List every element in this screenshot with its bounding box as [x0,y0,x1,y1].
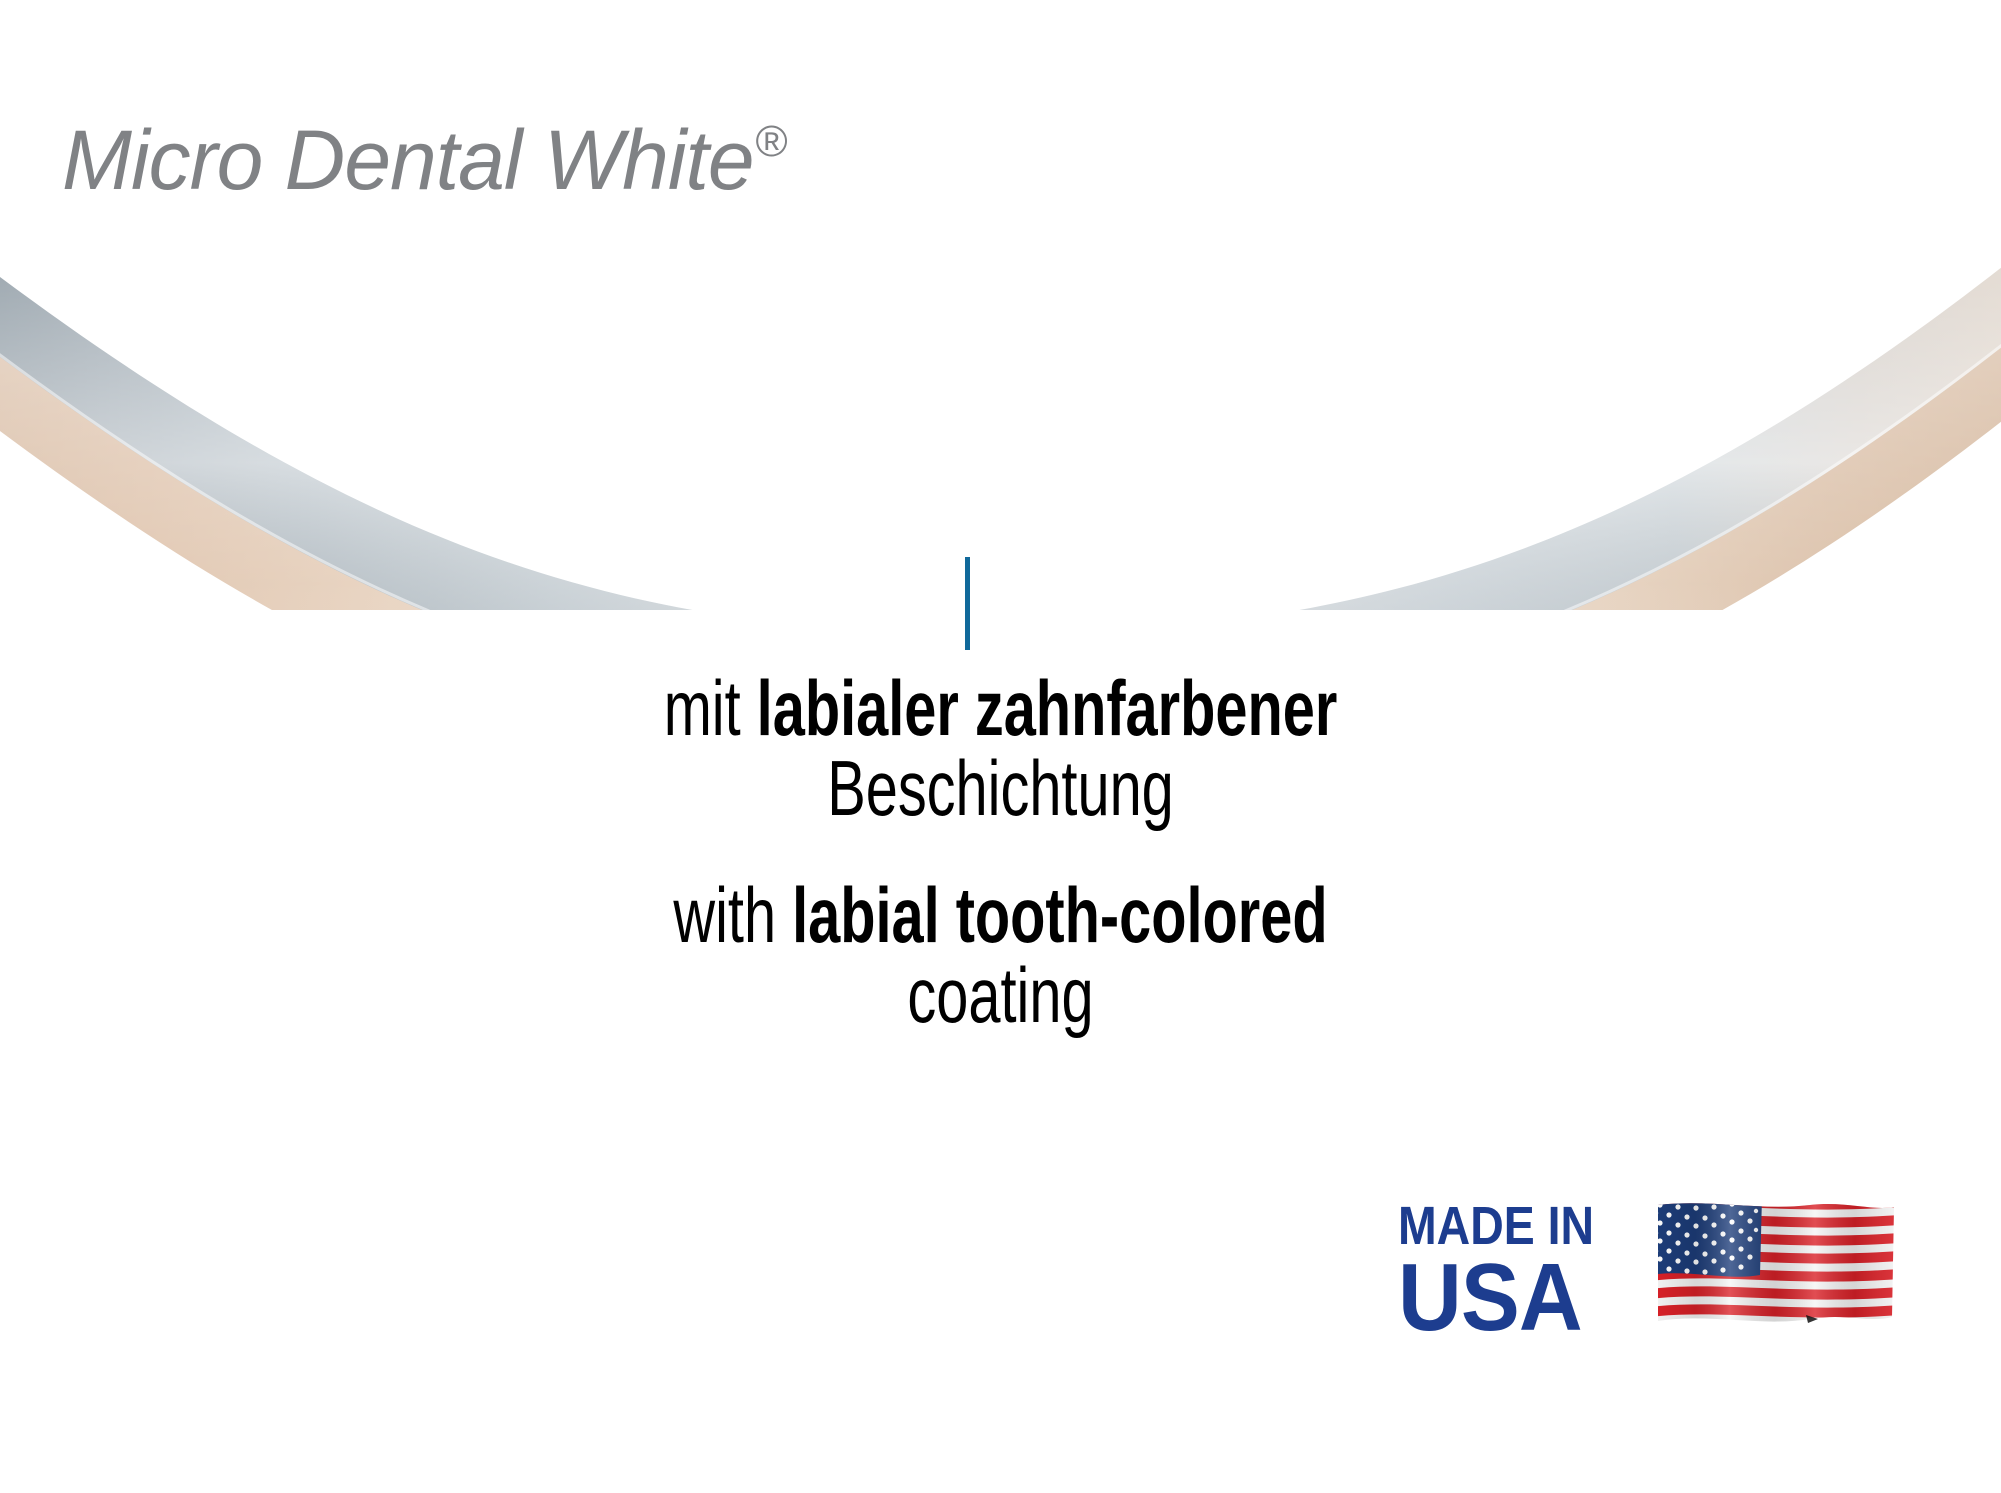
caption-german-line-1: mit labialer zahnfarbener [260,668,1741,748]
caption-english-line1-strong: labial tooth-colored [792,871,1328,959]
usa-flag-icon [1650,1197,1900,1347]
badge-line-usa: USA [1398,1254,1608,1342]
slide-canvas: Micro Dental White® [0,0,2001,1493]
made-in-usa-wordmark: MADE IN USA [1398,1202,1626,1342]
caption-english-line-2: coating [260,955,1741,1035]
flag-body [1650,1197,1900,1347]
caption-german-line-2: Beschichtung [260,748,1741,828]
caption-german-line1-strong: labialer zahnfarbener [757,664,1338,752]
caption-german: mit labialer zahnfarbener Beschichtung [0,668,2001,829]
caption-english-line-1: with labial tooth-colored [260,875,1741,955]
archwire-illustration [0,190,2001,610]
caption-block: mit labialer zahnfarbener Beschichtung w… [0,668,2001,1035]
callout-leader-line [965,557,970,650]
archwire-photo [0,190,2001,610]
usa-flag-illustration [1650,1197,1900,1347]
registered-trademark-icon: ® [756,117,788,166]
caption-german-line1-light: mit [664,664,757,752]
caption-english: with labial tooth-colored coating [0,875,2001,1036]
made-in-usa-badge: MADE IN USA [1398,1192,1958,1352]
caption-english-line1-light: with [673,871,792,959]
